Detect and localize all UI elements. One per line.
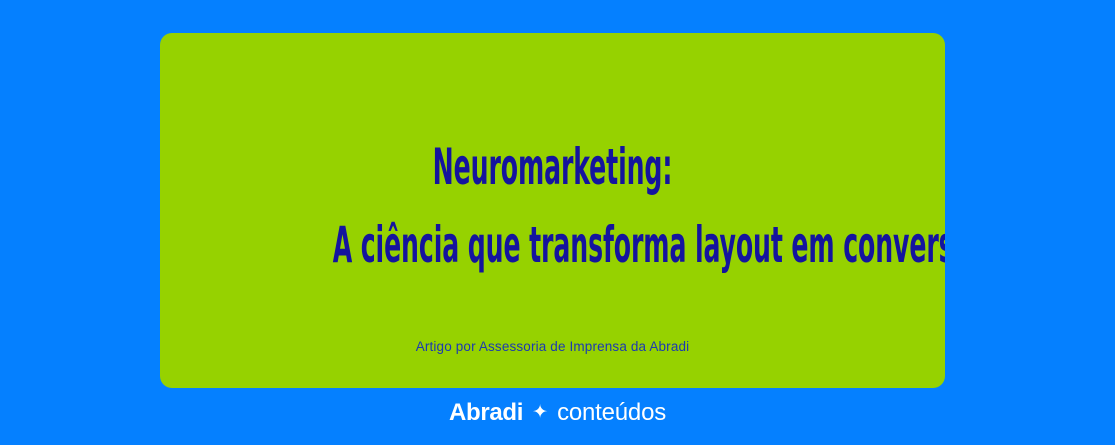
brand-tagline: conteúdos: [557, 398, 666, 428]
four-pointed-star-icon: ✦: [532, 398, 548, 428]
headline-line-2: A ciência que transforma layout em conve…: [333, 219, 773, 271]
headline: Neuromarketing: A ciência que transforma…: [160, 141, 945, 271]
slide-canvas: Neuromarketing: A ciência que transforma…: [0, 0, 1115, 445]
footer-logo: Abradi ✦ conteúdos: [0, 396, 1115, 430]
article-cover-card: Neuromarketing: A ciência que transforma…: [160, 33, 945, 388]
headline-line-1: Neuromarketing:: [333, 141, 773, 193]
byline-text: Artigo por Assessoria de Imprensa da Abr…: [160, 339, 945, 354]
card-content: Neuromarketing: A ciência que transforma…: [160, 33, 945, 388]
brand-name: Abradi: [449, 398, 523, 428]
